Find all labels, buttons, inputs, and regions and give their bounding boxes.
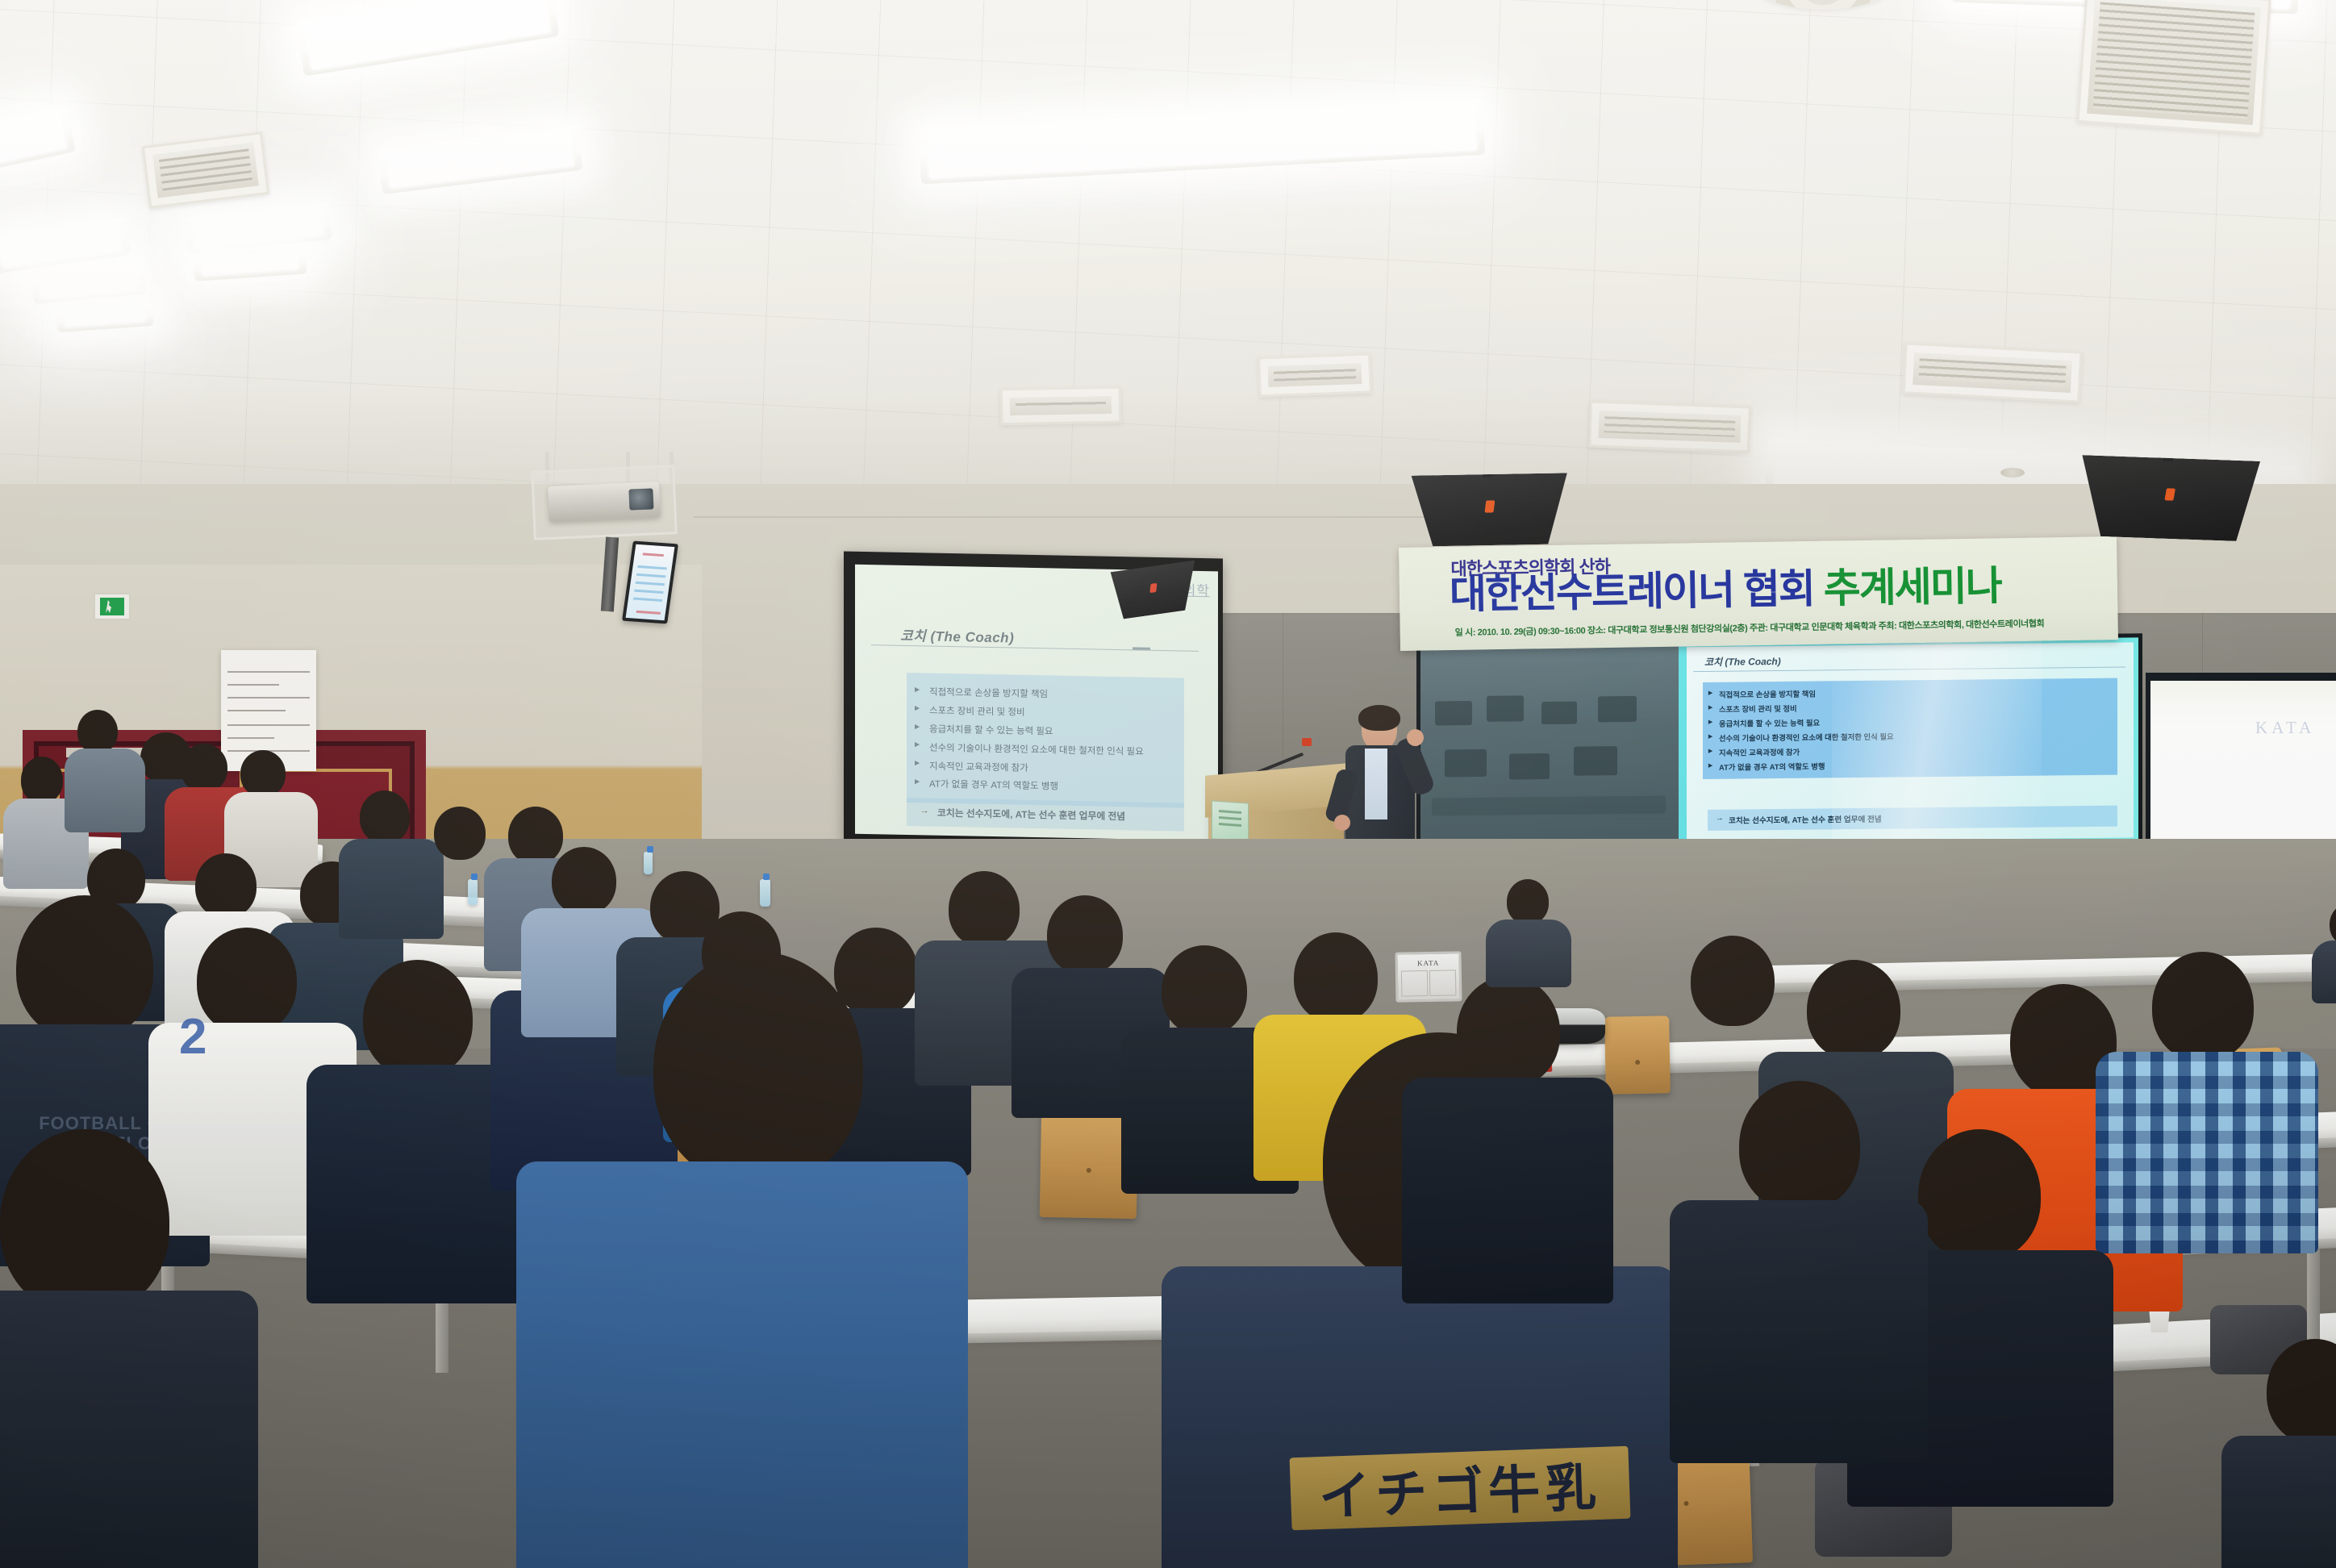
wall-seam [694,516,1500,518]
banner-title: 대한선수트레이너 협회 추계세미나 [1450,565,2001,615]
speaker-logo-badge [2164,488,2175,500]
screen-watermark: KATA [2255,718,2315,738]
banner-footer: 일 시: 2010. 10. 29(금) 09:30~16:00 장소: 대구대… [1455,616,2045,638]
audience-person [323,960,516,1299]
seminar-banner: 대한스포츠의학회 산하 대한선수트레이너 협회 추계세미나 일 시: 2010.… [1399,536,2118,651]
speaker-logo-badge [1149,583,1157,593]
hoodie-text-front: イチゴ牛乳 [1290,1446,1631,1531]
slide-title: 코치 (The Coach) [900,624,1014,647]
audience-person [1694,1081,1904,1460]
audience-person [2242,1339,2336,1568]
audience-person [1492,879,1565,984]
audience-person [69,710,137,831]
lcd-bullet-box: 직접적으로 손상을 방지할 책임 스포츠 장비 관리 및 정비 응급처치를 할 … [1703,678,2117,779]
running-person-icon [100,598,124,615]
slide-bullet-box: 직접적으로 손상을 방지할 책임 스포츠 장비 관리 및 정비 응급처치를 할 … [907,673,1184,807]
audience-person-front-centre [557,952,903,1568]
water-bottle[interactable] [760,879,770,907]
audience-person [1420,976,1597,1299]
presenter-left-hand [1334,815,1350,831]
mic-indicator-light [1302,738,1312,746]
lecture-hall-photo: 스포츠 의학 코치 (The Coach) 직접적으로 손상을 방지할 책임 스… [0,0,2336,1568]
lcd-screen-surface: 코치 (The Coach) 직접적으로 손상을 방지할 책임 스포츠 장비 관… [1420,637,2138,848]
wall-speaker [1404,473,1575,547]
exit-sign [94,593,131,620]
wall-lcd-display: 코치 (The Coach) 직접적으로 손상을 방지할 책임 스포츠 장비 관… [1416,633,2142,852]
slide-conclusion: 코치는 선수지도에, AT는 선수 훈련 업무에 전념 [907,798,1184,832]
lcd-slide-title: 코치 (The Coach) [1704,654,1781,669]
banner-title-green: 추계세미나 [1823,563,2001,611]
lcd-camera-feed [1420,642,1679,848]
presenter-right-hand [1407,729,1424,746]
audience-person [0,1129,226,1568]
presenter-shirt [1365,749,1387,819]
wall-speaker [2071,455,2267,542]
presenter-hair [1358,705,1400,731]
speaker-logo-badge [1485,500,1495,512]
banner-title-blue: 대한선수트레이너 협회 [1450,566,1825,617]
slide-dash-marker [1133,647,1150,649]
projector-lens-icon [628,488,653,510]
lcd-conclusion: 코치는 선수지도에, AT는 선수 훈련 업무에 전념 [1708,806,2117,831]
monitor-screen [626,544,675,620]
audience-person [2323,903,2336,1000]
jersey-number: 2 [179,1008,206,1065]
ceiling-projector [548,482,661,522]
audience-person-plaid [2113,952,2299,1250]
desk-leg [2307,1249,2320,1353]
ceiling-ac-grille [2076,0,2271,136]
lcd-slide-mirror: 코치 (The Coach) 직접적으로 손상을 방지할 책임 스포츠 장비 관… [1687,642,2134,842]
lectern-plaque [1212,800,1249,841]
